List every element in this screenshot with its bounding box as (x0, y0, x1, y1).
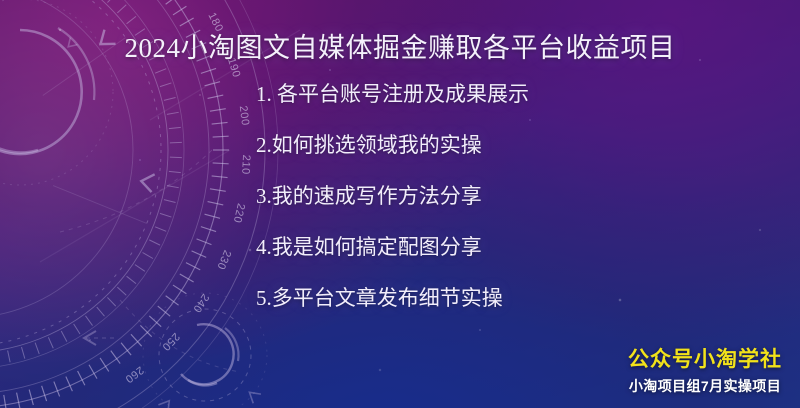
watermark-brand: 公众号小淘学社 (628, 348, 782, 372)
svg-text:260: 260 (122, 364, 145, 386)
dashed-connectors (60, 150, 240, 372)
watermark: 公众号小淘学社 小淘项目组7月实操项目 (628, 348, 782, 396)
broken-ring-bottom (143, 293, 267, 408)
list-item: 3.我的速成写作方法分享 (256, 186, 529, 207)
list-item: 2.如何挑选领域我的实操 (256, 135, 529, 156)
svg-text:230: 230 (214, 248, 233, 271)
svg-text:240: 240 (190, 291, 211, 314)
watermark-subtitle: 小淘项目组7月实操项目 (628, 376, 782, 396)
ring-chevron-icon (158, 388, 261, 408)
list-item: 1. 各平台账号注册及成果展示 (256, 84, 529, 105)
dial-radial-guides (43, 38, 147, 224)
agenda-list: 1. 各平台账号注册及成果展示 2.如何挑选领域我的实操 3.我的速成写作方法分… (256, 84, 529, 309)
arrow-marker-left (84, 331, 114, 345)
presentation-slide: 150 160 170 180 190 200 210 220 230 240 … (0, 0, 800, 408)
svg-text:200: 200 (237, 105, 251, 126)
svg-text:250: 250 (159, 330, 182, 353)
list-item: 4.我是如何搞定配图分享 (256, 237, 529, 258)
list-item: 5.多平台文章发布细节实操 (256, 288, 529, 309)
svg-text:210: 210 (239, 154, 252, 175)
page-title: 2024小淘图文自媒体掘金赚取各平台收益项目 (0, 26, 800, 65)
svg-text:220: 220 (231, 202, 247, 224)
